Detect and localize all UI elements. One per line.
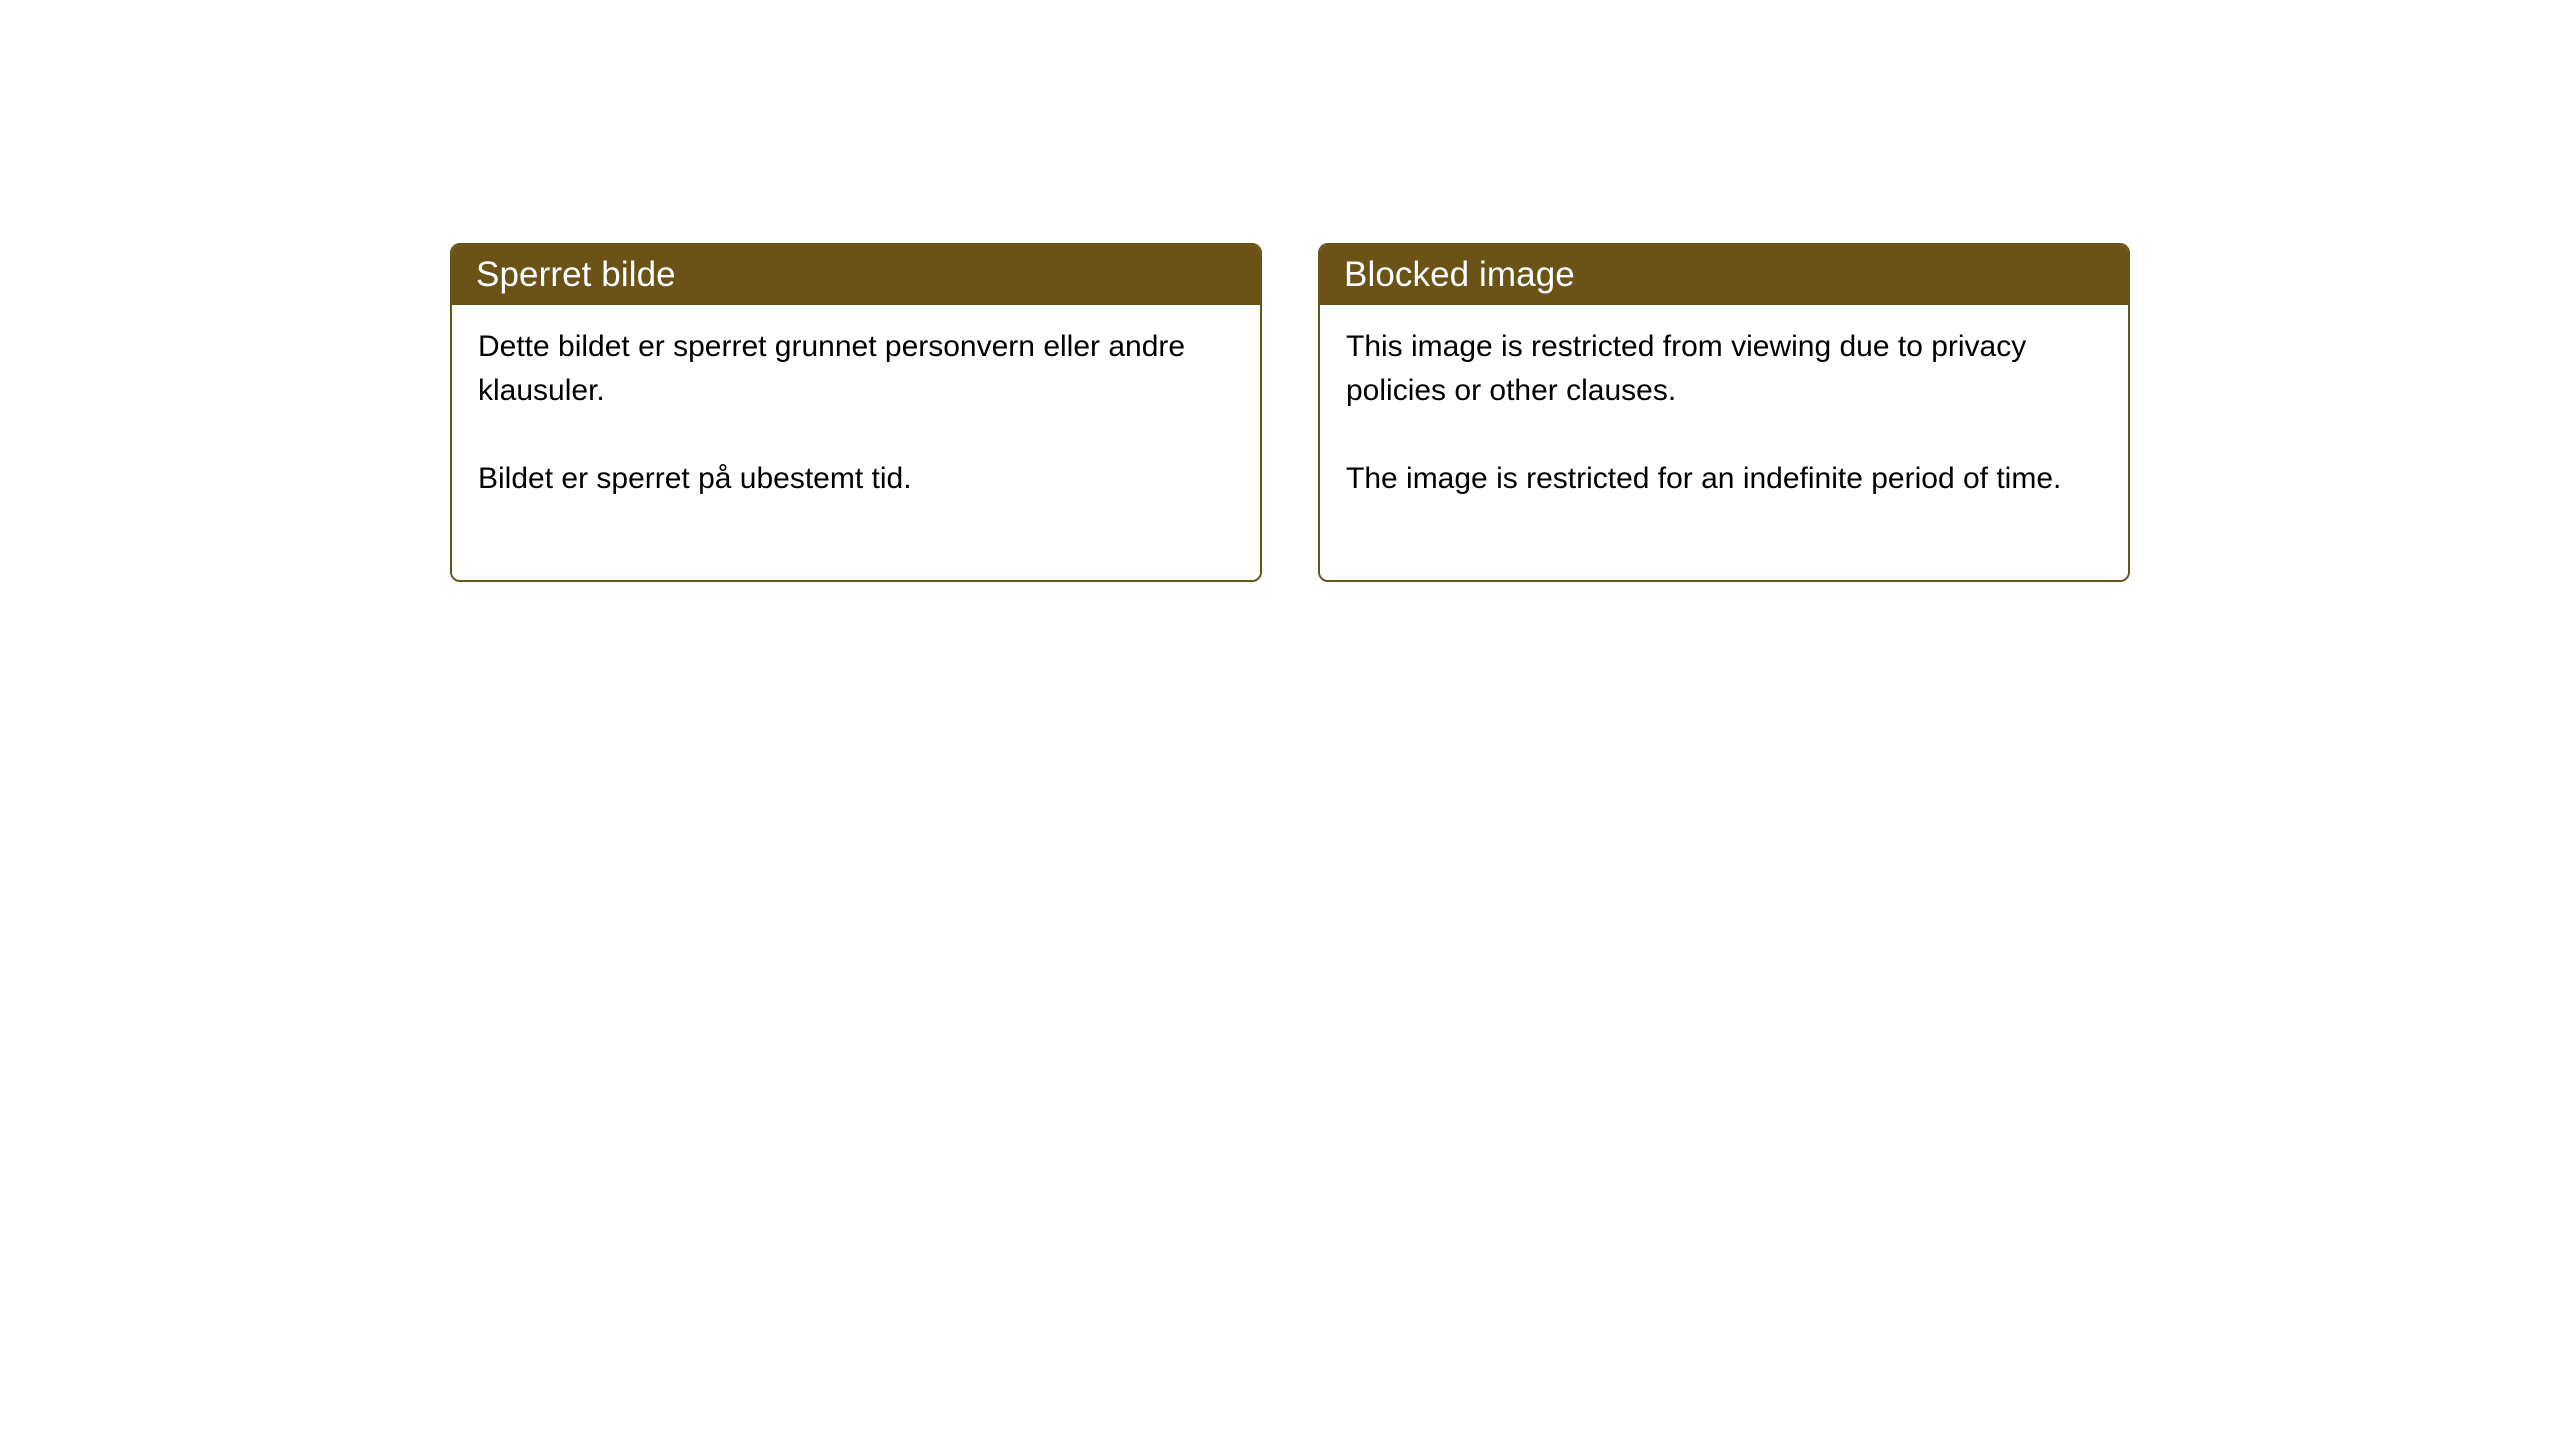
card-paragraph-primary-norwegian: Dette bildet er sperret grunnet personve… [478, 325, 1238, 413]
page-root: Sperret bilde Dette bildet er sperret gr… [0, 0, 2560, 1440]
card-paragraph-secondary-english: The image is restricted for an indefinit… [1346, 457, 2106, 501]
blocked-image-card-english: Blocked image This image is restricted f… [1318, 243, 2130, 582]
card-body-norwegian: Dette bildet er sperret grunnet personve… [452, 305, 1260, 580]
card-paragraph-secondary-norwegian: Bildet er sperret på ubestemt tid. [478, 457, 1238, 501]
card-header-english: Blocked image [1320, 245, 2128, 305]
blocked-image-card-norwegian: Sperret bilde Dette bildet er sperret gr… [450, 243, 1262, 582]
blocked-image-notice-group: Sperret bilde Dette bildet er sperret gr… [450, 243, 2130, 582]
card-header-norwegian: Sperret bilde [452, 245, 1260, 305]
card-title-english: Blocked image [1344, 255, 1575, 295]
card-title-norwegian: Sperret bilde [476, 255, 676, 295]
card-paragraph-primary-english: This image is restricted from viewing du… [1346, 325, 2106, 413]
card-body-english: This image is restricted from viewing du… [1320, 305, 2128, 580]
